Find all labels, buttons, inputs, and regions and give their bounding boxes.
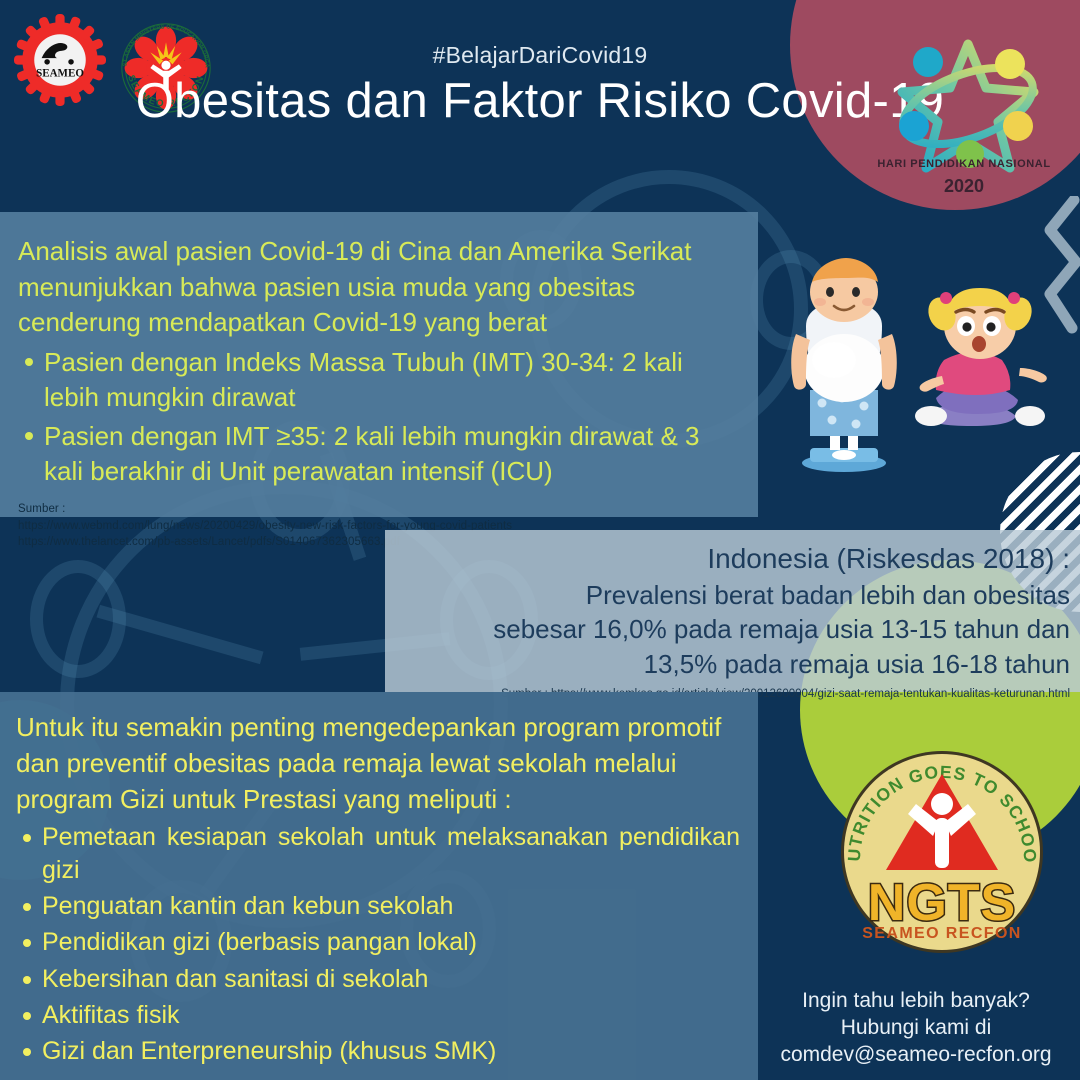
obese-children-illustration [776,248,1076,484]
list-item: Kebersihan dan sanitasi di sekolah [16,963,740,996]
list-item: Penguatan kantin dan kebun sekolah [16,890,740,923]
indonesia-line: 13,5% pada remaja usia 16-18 tahun [399,647,1070,682]
contact-line-2: Hubungi kami di [760,1015,1072,1042]
analysis-bullet-list: Pasien dengan Indeks Massa Tubuh (IMT) 3… [18,345,740,489]
indonesia-line: sebesar 16,0% pada remaja usia 13-15 tah… [399,612,1070,647]
page-title: Obesitas dan Faktor Risiko Covid-19 [120,72,960,132]
contact-line-1: Ingin tahu lebih banyak? [760,988,1072,1015]
hpn-year: 2020 [876,176,1052,197]
list-item: Pasien dengan Indeks Massa Tubuh (IMT) 3… [18,345,740,415]
analysis-lead-text: Analisis awal pasien Covid-19 di Cina da… [18,234,740,341]
program-bullet-list: Pemetaan kesiapan sekolah untuk melaksan… [16,821,740,1069]
infographic-poster: SEAMEO [0,0,1080,1080]
poster-header: SEAMEO [0,0,1080,212]
program-lead-text: Untuk itu semakin penting mengedepankan … [16,710,740,818]
ngts-badge-logo-icon: NUTRITION GOES TO SCHOOL NGTS SEAMEO REC… [838,748,1046,956]
boy-figure [791,258,897,472]
list-item: Aktifitas fisik [16,999,740,1032]
list-item: Pasien dengan IMT ≥35: 2 kali lebih mung… [18,419,740,489]
panel-analysis: Analisis awal pasien Covid-19 di Cina da… [0,212,758,517]
source-label: Sumber : [18,501,740,517]
indonesia-line: Prevalensi berat badan lebih dan obesita… [399,578,1070,613]
hpn-caption: HARI PENDIDIKAN NASIONAL [876,158,1052,170]
panel-program: Untuk itu semakin penting mengedepankan … [0,692,758,1080]
list-item: Pendidikan gizi (berbasis pangan lokal) [16,926,740,959]
indonesia-heading: Indonesia (Riskesdas 2018) : [399,540,1070,578]
girl-figure [915,288,1047,426]
list-item: Pemetaan kesiapan sekolah untuk melaksan… [16,821,740,888]
svg-text:SEAMEO: SEAMEO [36,68,84,80]
contact-email[interactable]: comdev@seameo-recfon.org [760,1042,1072,1069]
svg-text:NGTS: NGTS [868,874,1016,932]
panel-indonesia: Indonesia (Riskesdas 2018) : Prevalensi … [385,530,1080,692]
list-item: Gizi dan Enterpreneurship (khusus SMK) [16,1035,740,1068]
contact-block: Ingin tahu lebih banyak? Hubungi kami di… [760,988,1072,1069]
svg-text:SEAMEO RECFON: SEAMEO RECFON [862,925,1022,942]
